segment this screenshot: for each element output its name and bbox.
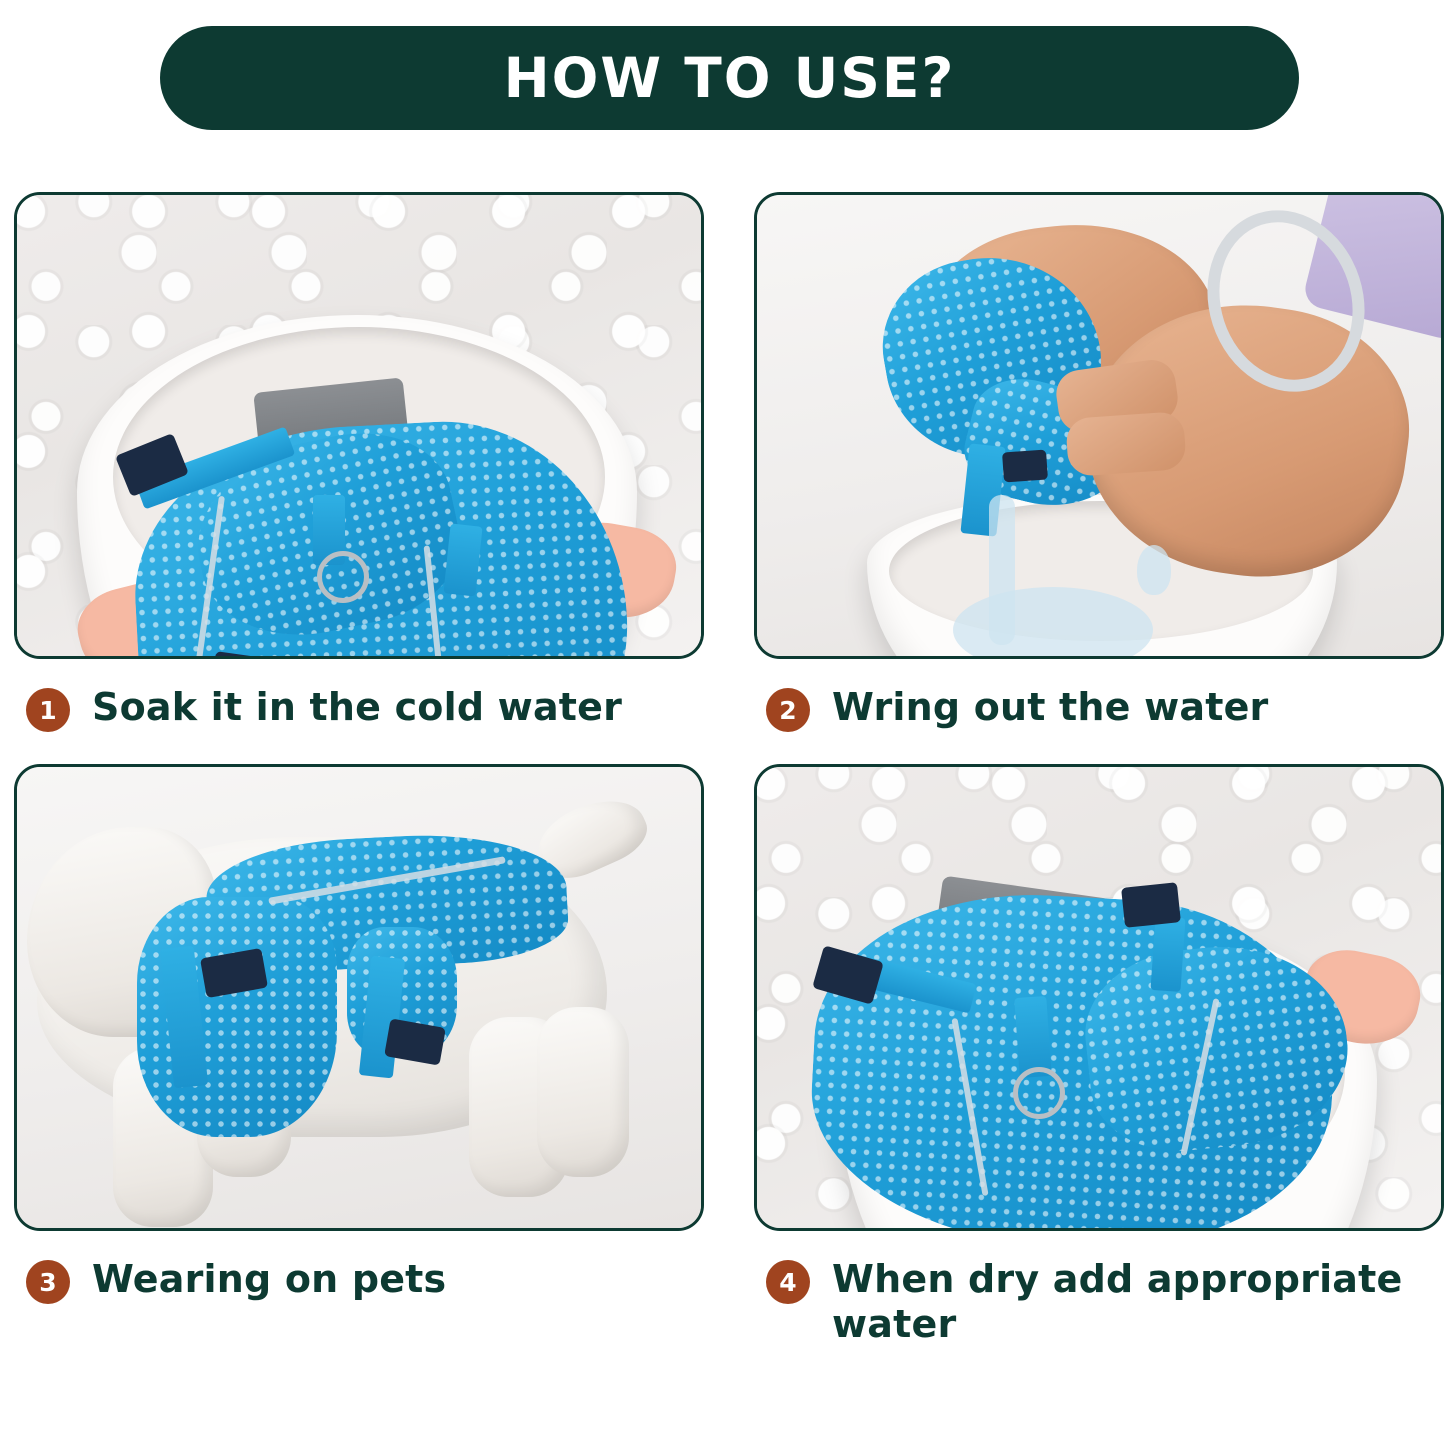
step-4: 4 When dry add appropriate water: [754, 764, 1444, 1347]
step-1: 1 Soak it in the cold water: [14, 192, 704, 732]
step-2: 2 Wring out the water: [754, 192, 1444, 732]
harness-d-ring: [317, 551, 369, 603]
step-2-caption-text: Wring out the water: [832, 685, 1269, 730]
step-2-badge: 2: [766, 688, 810, 732]
step-2-scene: [757, 195, 1441, 656]
step-3-caption-text: Wearing on pets: [92, 1257, 446, 1302]
step-3-scene: [17, 767, 701, 1228]
step-1-caption-text: Soak it in the cold water: [92, 685, 622, 730]
step-4-photo: [754, 764, 1444, 1231]
wrung-buckle: [1002, 450, 1048, 483]
steps-grid: 1 Soak it in the cold water: [14, 192, 1431, 1347]
step-2-photo: [754, 192, 1444, 659]
step-1-scene: [17, 195, 701, 656]
step-3-badge: 3: [26, 1260, 70, 1304]
harness-strap-2c: [1150, 916, 1185, 992]
step-3-caption: 3 Wearing on pets: [14, 1257, 704, 1304]
water-drop-small: [1137, 545, 1171, 595]
page-title: HOW TO USE?: [504, 51, 956, 106]
how-to-use-infographic: HOW TO USE?: [0, 0, 1445, 1445]
harness-buckle-2b: [1121, 882, 1181, 928]
harness-d-ring-2: [1013, 1067, 1065, 1119]
step-1-badge: 1: [26, 688, 70, 732]
step-4-caption-text: When dry add appropriate water: [832, 1257, 1444, 1347]
step-4-scene: [757, 767, 1441, 1228]
harness-strap-2b: [1014, 996, 1052, 1078]
header-banner: HOW TO USE?: [160, 26, 1299, 130]
step-1-caption: 1 Soak it in the cold water: [14, 685, 704, 732]
step-3: 3 Wearing on pets: [14, 764, 704, 1347]
step-1-photo: [14, 192, 704, 659]
step-3-photo: [14, 764, 704, 1231]
dog-leg-rear-2: [537, 1007, 629, 1177]
step-4-badge: 4: [766, 1260, 810, 1304]
step-4-caption: 4 When dry add appropriate water: [754, 1257, 1444, 1347]
step-2-caption: 2 Wring out the water: [754, 685, 1444, 732]
finger-lower-2: [1065, 411, 1187, 477]
